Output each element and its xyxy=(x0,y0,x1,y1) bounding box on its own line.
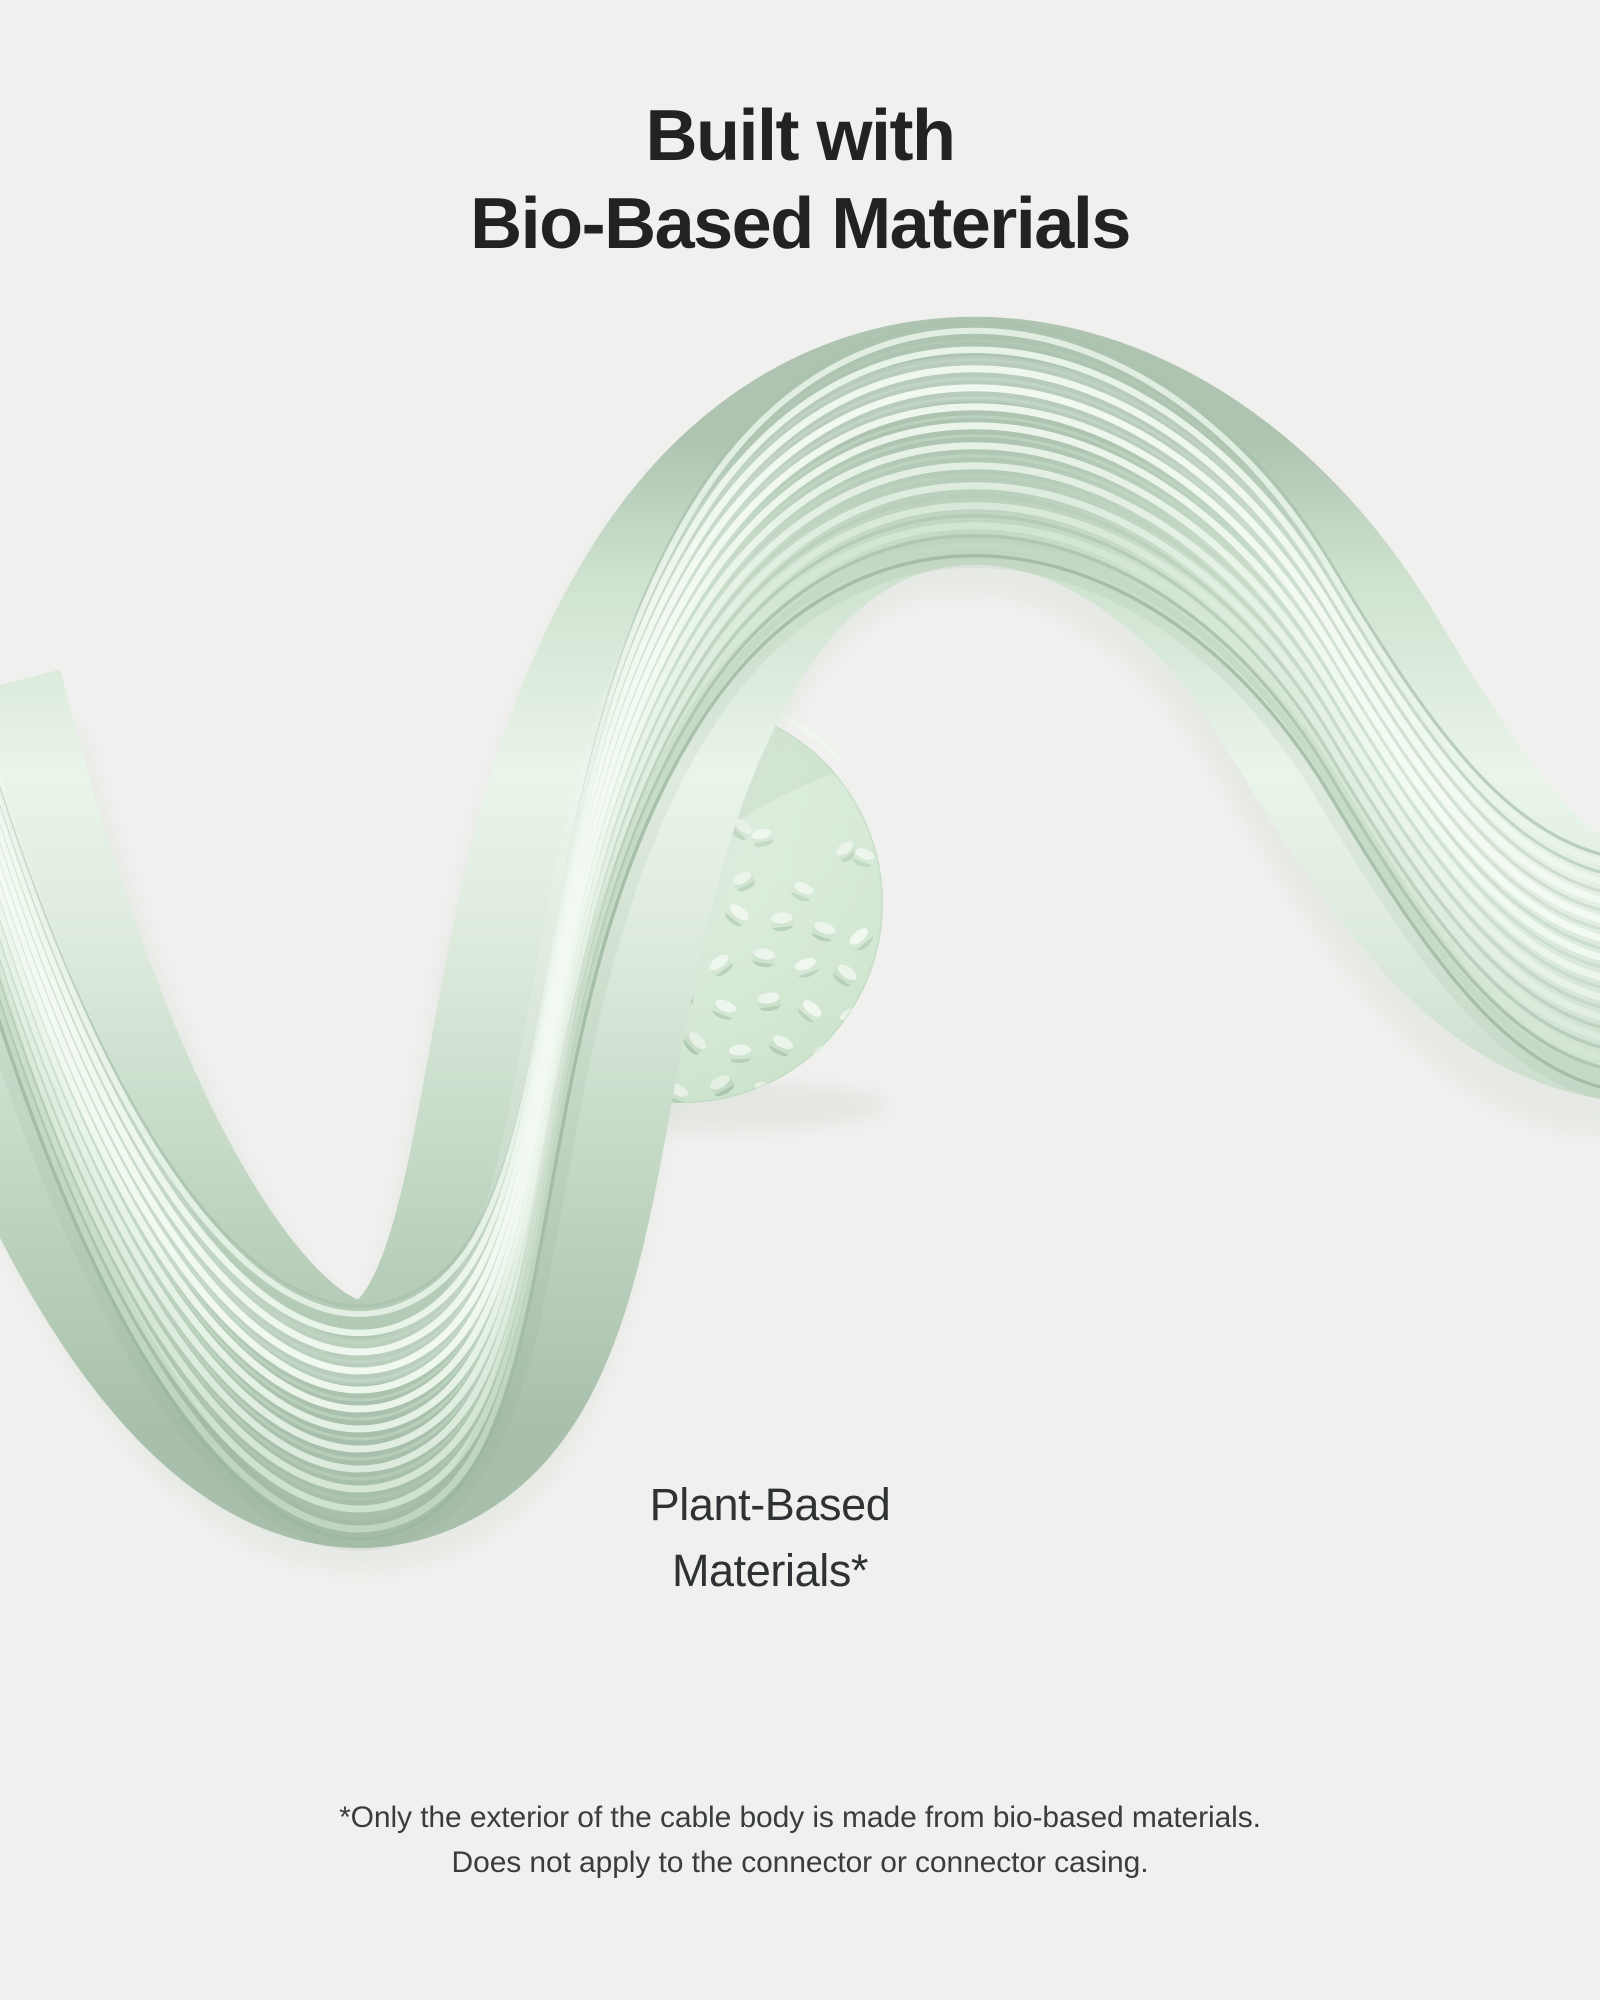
page-title-line-1: Built with xyxy=(0,92,1600,180)
footnote-line-2: Does not apply to the connector or conne… xyxy=(0,1840,1600,1885)
page-title-line-2: Bio-Based Materials xyxy=(0,180,1600,268)
footnote-disclaimer: *Only the exterior of the cable body is … xyxy=(0,1795,1600,1885)
product-feature-page: Built with Bio-Based Materials xyxy=(0,0,1600,2000)
page-title: Built with Bio-Based Materials xyxy=(0,92,1600,268)
feature-caption: Plant-Based Materials* xyxy=(530,1472,1010,1604)
feature-caption-line-1: Plant-Based xyxy=(530,1472,1010,1538)
feature-caption-line-2: Materials* xyxy=(530,1538,1010,1604)
footnote-line-1: *Only the exterior of the cable body is … xyxy=(0,1795,1600,1840)
